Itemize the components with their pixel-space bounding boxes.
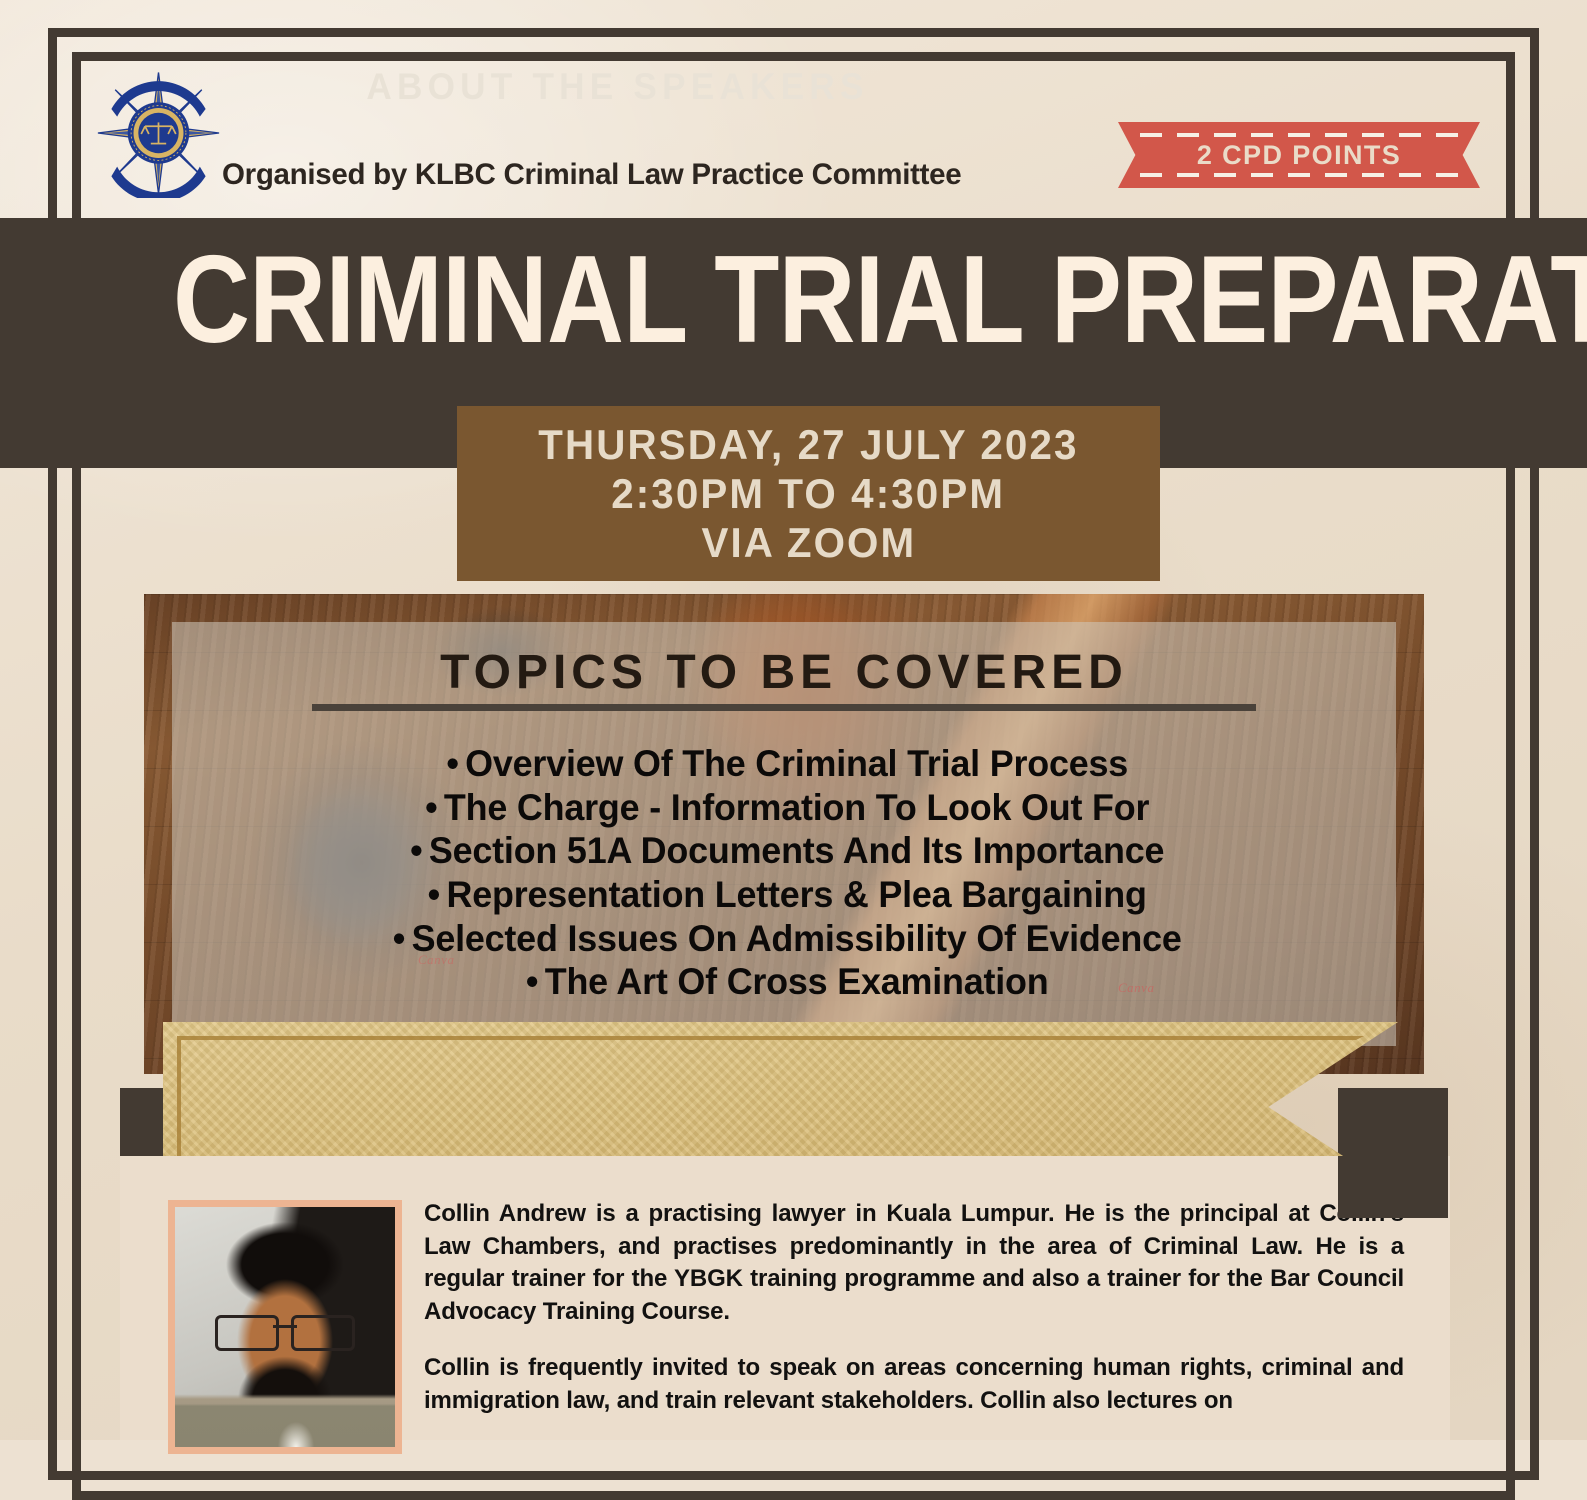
bio-right-stub <box>1338 1156 1448 1218</box>
topics-heading-underline <box>312 704 1256 711</box>
event-platform: VIA ZOOM <box>701 519 916 566</box>
topic-item: •Section 51A Documents And Its Importanc… <box>163 829 1405 873</box>
topic-label: Representation Letters & Plea Bargaining <box>446 874 1146 915</box>
speaker-avatar <box>168 1200 402 1454</box>
event-date: THURSDAY, 27 JULY 2023 <box>538 421 1078 468</box>
bio-paragraph-2: Collin is frequently invited to speak on… <box>424 1352 1404 1417</box>
topics-panel: TOPICS TO BE COVERED •Overview Of The Cr… <box>144 594 1424 1074</box>
canva-watermark: Canva <box>418 952 454 968</box>
topics-list: •Overview Of The Criminal Trial Process … <box>144 742 1424 1004</box>
topic-item: •Representation Letters & Plea Bargainin… <box>163 873 1405 917</box>
topic-label: The Charge - Information To Look Out For <box>444 787 1149 828</box>
organiser-line: Organised by KLBC Criminal Law Practice … <box>222 158 961 192</box>
glasses-icon <box>205 1315 365 1345</box>
cpd-dash-bottom <box>1140 173 1459 177</box>
topic-item: •The Art Of Cross Examination <box>163 960 1405 1004</box>
lens-bridge <box>273 1325 297 1328</box>
about-speakers-heading: ABOUT THE SPEAKERS <box>31 66 1204 108</box>
speaker-bio-text: Collin Andrew is a practising lawyer in … <box>424 1198 1404 1441</box>
canva-watermark: Canva <box>1118 980 1154 996</box>
event-details-box: THURSDAY, 27 JULY 2023 2:30PM TO 4:30PM … <box>457 406 1160 581</box>
topic-item: •The Charge - Information To Look Out Fo… <box>163 786 1405 830</box>
bullet-icon: • <box>440 742 465 786</box>
bullet-icon: • <box>421 873 446 917</box>
lens-right <box>291 1315 355 1351</box>
bullet-icon: • <box>520 960 545 1004</box>
bullet-icon: • <box>404 829 429 873</box>
topic-item: •Overview Of The Criminal Trial Process <box>163 742 1405 786</box>
cpd-dash-top <box>1140 133 1459 137</box>
lens-left <box>215 1315 279 1351</box>
event-time: 2:30PM TO 4:30PM <box>612 470 1006 517</box>
topic-label: The Art Of Cross Examination <box>545 961 1049 1002</box>
ribbon-tab-right <box>1338 1088 1448 1156</box>
cpd-points-badge: 2 CPD POINTS <box>1118 122 1480 188</box>
topics-heading: TOPICS TO BE COVERED <box>144 645 1424 700</box>
topic-item: •Selected Issues On Admissibility Of Evi… <box>163 917 1405 961</box>
topic-label: Section 51A Documents And Its Importance <box>429 830 1164 871</box>
topic-label: Overview Of The Criminal Trial Process <box>465 743 1128 784</box>
speaker-bio-block: Collin Andrew is a practising lawyer in … <box>120 1156 1450 1440</box>
bullet-icon: • <box>419 786 444 830</box>
bullet-icon: • <box>386 917 411 961</box>
bio-paragraph-1: Collin Andrew is a practising lawyer in … <box>424 1198 1404 1328</box>
poster-canvas: Organised by KLBC Criminal Law Practice … <box>0 0 1587 1440</box>
page-title: CRIMINAL TRIAL PREPARATION <box>173 238 1414 362</box>
cpd-points-label: 2 CPD POINTS <box>1197 140 1401 171</box>
topic-label: Selected Issues On Admissibility Of Evid… <box>412 918 1182 959</box>
